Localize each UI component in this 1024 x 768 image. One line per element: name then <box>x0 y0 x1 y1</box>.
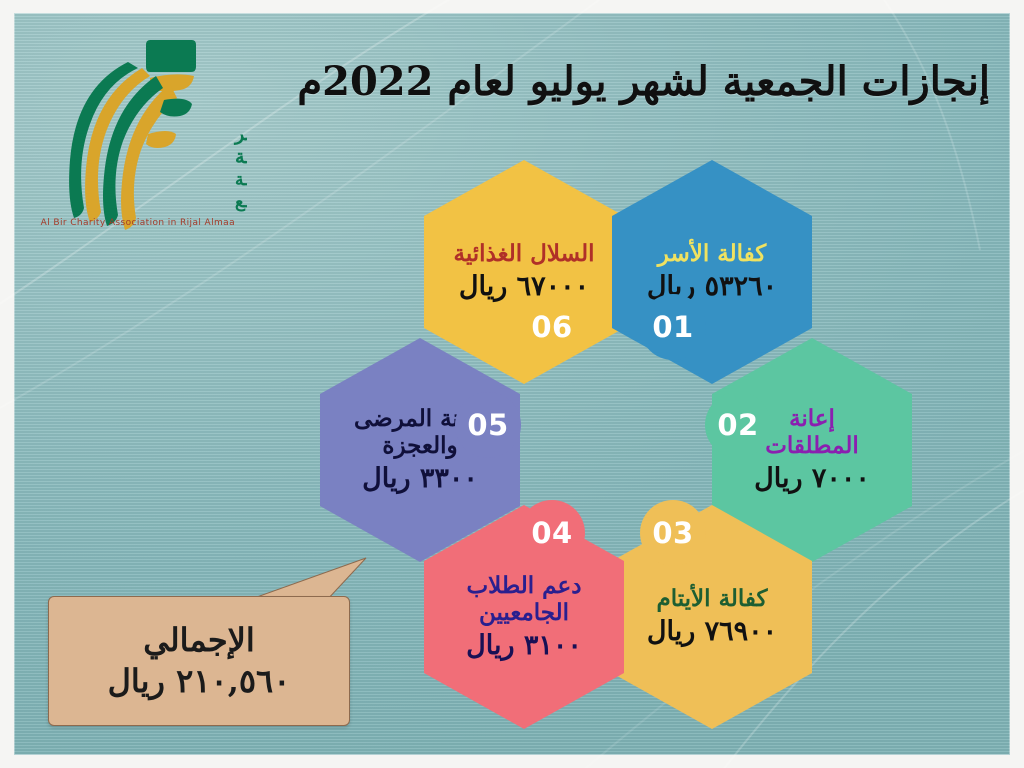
hexagon-04-amount: ٣١٠٠ ريال <box>438 630 610 662</box>
organization-logo: جمعية البر الأهليــة بمحافظــة رجــال أل… <box>32 22 247 237</box>
hexagon-06-number-badge: 06 <box>519 294 585 360</box>
hexagon-03-number-badge: 03 <box>640 500 706 566</box>
total-box: الإجمالي ٢١٠,٥٦٠ ريال <box>48 596 350 726</box>
logo-line-2: الأهليــة <box>235 144 247 168</box>
hexagon-03-amount: ٧٦٩٠٠ ريال <box>626 616 798 648</box>
logo-line-1: جمعية البر <box>233 123 247 145</box>
hexagon-02-amount: ٧٠٠٠ ريال <box>726 463 898 495</box>
hexagon-02-number-badge: 02 <box>705 392 771 458</box>
hexagon-01-number-badge: 01 <box>640 294 706 360</box>
logo-english-text: Al Bir Charity Association in Rijal Alma… <box>41 218 235 228</box>
logo-line-3: بمحافظــة <box>235 170 247 190</box>
page-title: إنجازات الجمعية لشهر يوليو لعام 2022م <box>250 34 990 130</box>
hexagon-05-number-badge: 05 <box>455 392 521 458</box>
hexagon-06-amount: ٦٧٠٠٠ ريال <box>438 271 610 303</box>
total-label: الإجمالي <box>143 621 255 659</box>
hexagon-04-label: دعم الطلاب الجامعيين <box>438 572 610 626</box>
logo-arabic-text: جمعية البر الأهليــة بمحافظــة رجــال أل… <box>233 123 247 212</box>
total-callout: الإجمالي ٢١٠,٥٦٠ ريال <box>48 572 368 732</box>
hexagon-04-number-badge: 04 <box>519 500 585 566</box>
hexagon-03-label: كفالة الأيتام <box>626 585 798 612</box>
total-amount: ٢١٠,٥٦٠ ريال <box>108 661 291 701</box>
logo-line-4: رجــال ألـمـع <box>235 189 247 212</box>
infographic-poster: جمعية البر الأهليــة بمحافظــة رجــال أل… <box>0 0 1024 768</box>
hexagon-05-amount: ٣٣٠٠ ريال <box>334 463 506 495</box>
hexagon-01-amount: ٥٣٢٦٠ ريال <box>626 271 798 303</box>
hexagon-06-label: السلال الغذائية <box>438 240 610 267</box>
logo-calligraphy-mark <box>69 40 196 230</box>
hexagon-01-label: كفالة الأسر <box>626 240 798 267</box>
